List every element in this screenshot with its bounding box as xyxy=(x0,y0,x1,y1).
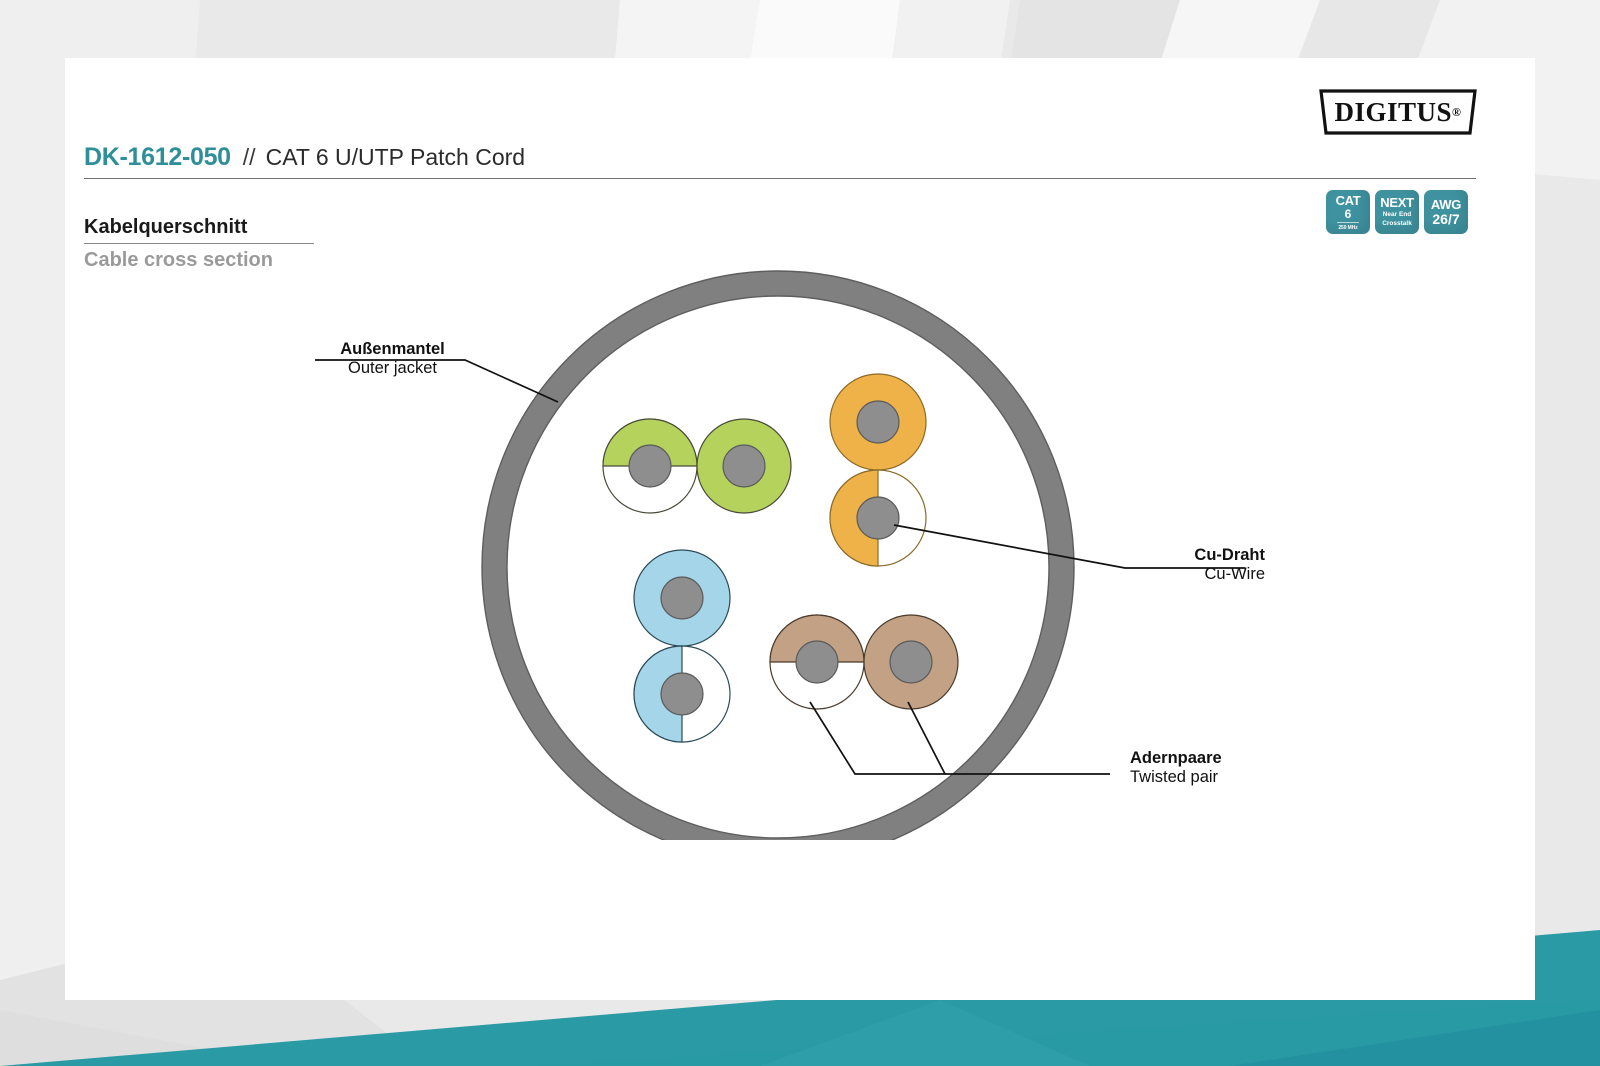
cu-core xyxy=(796,641,838,683)
cat-badge-line1: CAT xyxy=(1336,194,1361,207)
cu-core xyxy=(629,445,671,487)
awg-badge-line1: AWG xyxy=(1431,198,1461,211)
callout-outer-jacket-de: Außenmantel xyxy=(300,340,485,359)
callout-cu-wire: Cu-Draht Cu-Wire xyxy=(1085,546,1265,585)
section-heading-divider xyxy=(84,243,314,244)
cu-core xyxy=(890,641,932,683)
product-sku: DK-1612-050 xyxy=(84,143,231,172)
digitus-logo: DIGITUS® xyxy=(1318,88,1478,136)
title-divider xyxy=(84,178,1476,179)
cat-badge: CAT 6 250 MHz xyxy=(1326,190,1370,234)
cat-badge-rule xyxy=(1337,222,1359,223)
certification-badges: CAT 6 250 MHz NEXT Near End Crosstalk AW… xyxy=(1326,190,1468,234)
brown-wire-striped xyxy=(770,615,864,709)
cu-core xyxy=(661,673,703,715)
logo-wordmark: DIGITUS® xyxy=(1318,88,1478,136)
callout-cu-wire-en: Cu-Wire xyxy=(1085,565,1265,584)
logo-text: DIGITUS xyxy=(1334,97,1452,128)
registered-mark: ® xyxy=(1452,106,1461,118)
cu-core xyxy=(857,497,899,539)
next-badge-line1: NEXT xyxy=(1380,196,1413,209)
section-heading-de: Kabelquerschnitt xyxy=(84,216,247,239)
next-badge-sub1: Near End xyxy=(1383,211,1412,219)
cu-core xyxy=(661,577,703,619)
next-badge-sub2: Crosstalk xyxy=(1382,220,1412,228)
brown-wire-solid xyxy=(864,615,958,709)
green-wire-striped xyxy=(603,419,697,513)
title-separator: // xyxy=(243,144,256,171)
green-wire-solid xyxy=(697,419,791,513)
blue-wire-solid xyxy=(634,550,730,646)
product-description: CAT 6 U/UTP Patch Cord xyxy=(266,144,525,171)
callout-cu-wire-de: Cu-Draht xyxy=(1085,546,1265,565)
blue-wire-striped xyxy=(634,646,730,742)
cat-badge-line3: 250 MHz xyxy=(1338,226,1357,231)
callout-twisted-pair-de: Adernpaare xyxy=(1130,749,1350,768)
section-heading-en: Cable cross section xyxy=(84,249,273,272)
product-title-row: DK-1612-050 // CAT 6 U/UTP Patch Cord xyxy=(84,143,1476,177)
callout-outer-jacket-en: Outer jacket xyxy=(300,359,485,378)
outer-jacket-ring xyxy=(482,271,1074,840)
callout-twisted-pair: Adernpaare Twisted pair xyxy=(1130,749,1350,788)
callout-outer-jacket: Außenmantel Outer jacket xyxy=(300,340,485,379)
cat-badge-line2: 6 xyxy=(1345,208,1352,220)
awg-badge-line2: 26/7 xyxy=(1432,212,1459,226)
orange-wire-solid xyxy=(830,374,926,470)
cu-core xyxy=(857,401,899,443)
awg-badge: AWG 26/7 xyxy=(1424,190,1468,234)
callout-twisted-pair-en: Twisted pair xyxy=(1130,768,1350,787)
orange-wire-striped xyxy=(830,470,926,566)
cu-core xyxy=(723,445,765,487)
next-badge: NEXT Near End Crosstalk xyxy=(1375,190,1419,234)
